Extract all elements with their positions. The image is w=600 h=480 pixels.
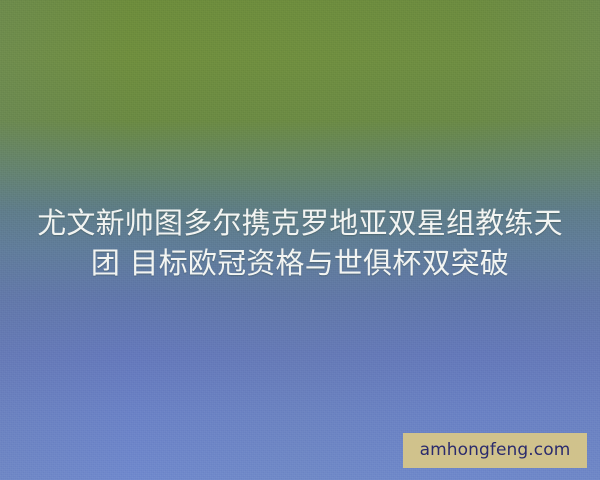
watermark-label: amhongfeng.com xyxy=(420,442,571,459)
headline-text: 尤文新帅图多尔携克罗地亚双星组教练天团 目标欧冠资格与世俱杯双突破 xyxy=(28,203,572,283)
news-title-card: 尤文新帅图多尔携克罗地亚双星组教练天团 目标欧冠资格与世俱杯双突破 amhong… xyxy=(0,0,600,480)
watermark-badge: amhongfeng.com xyxy=(403,433,587,468)
